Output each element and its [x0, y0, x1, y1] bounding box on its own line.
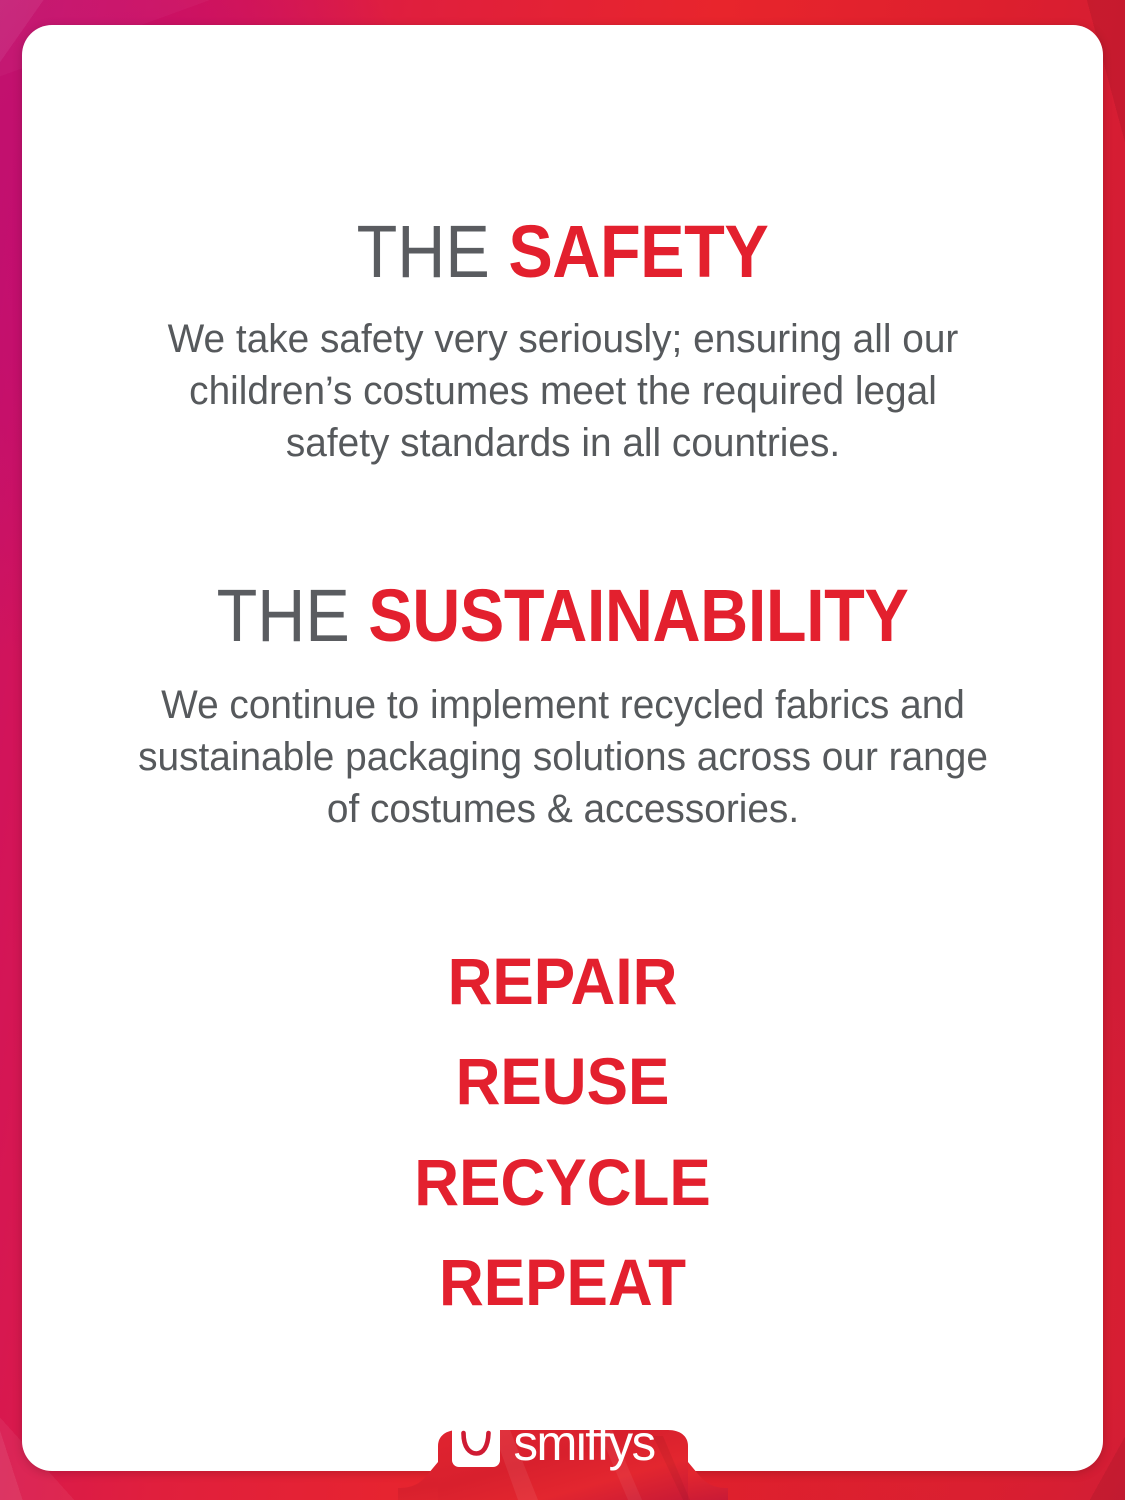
- smiffys-logo-banner: smiffys ™: [398, 1396, 728, 1500]
- slogan-block: REPAIR REUSE RECYCLE REPEAT: [100, 931, 1025, 1332]
- safety-heading-accent: SAFETY: [508, 210, 768, 293]
- sustainability-heading: THE SUSTAINABILITY: [146, 579, 979, 653]
- slogan-line-reuse: REUSE: [128, 1031, 998, 1131]
- sustainability-heading-prefix: THE: [217, 574, 369, 657]
- slogan-line-repair: REPAIR: [128, 931, 998, 1031]
- poster-root: THE SAFETY We take safety very seriously…: [0, 0, 1125, 1500]
- safety-heading-prefix: THE: [357, 210, 509, 293]
- slogan-line-repeat: REPEAT: [128, 1232, 998, 1332]
- content-card: THE SAFETY We take safety very seriously…: [22, 25, 1103, 1471]
- safety-body-text: We take safety very seriously; ensuring …: [136, 313, 990, 469]
- sustainability-body-text: We continue to implement recycled fabric…: [136, 679, 990, 835]
- sustainability-heading-accent: SUSTAINABILITY: [368, 574, 908, 657]
- slogan-line-recycle: RECYCLE: [128, 1132, 998, 1232]
- content-card-inner: THE SAFETY We take safety very seriously…: [22, 25, 1103, 1332]
- safety-heading: THE SAFETY: [146, 215, 979, 289]
